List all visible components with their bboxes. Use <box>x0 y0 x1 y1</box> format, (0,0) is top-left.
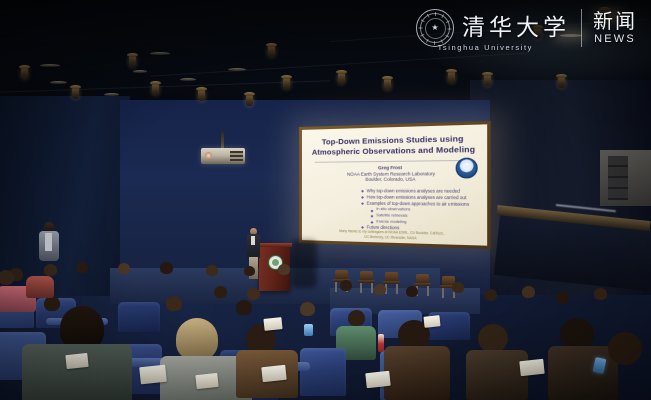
projector-vent <box>230 151 243 161</box>
attendee-head <box>406 286 418 297</box>
ceiling-spotlight <box>268 46 275 57</box>
handout-paper <box>195 373 218 389</box>
light-glow <box>552 28 590 42</box>
ceiling-spotlight <box>384 79 391 90</box>
lecture-hall-photo: Top-Down Emissions Studies using Atmosph… <box>0 0 651 400</box>
ceiling-spotlight <box>198 90 205 101</box>
attendee-head <box>348 310 365 326</box>
attendee-head <box>160 262 173 274</box>
attendee-head <box>478 324 508 353</box>
attendee-head <box>300 302 315 316</box>
ceiling-light-disc <box>104 93 119 96</box>
slide-title: Top-Down Emissions Studies using Atmosph… <box>309 133 479 158</box>
screen-surface: Top-Down Emissions Studies using Atmosph… <box>302 124 487 245</box>
ceiling-light-disc <box>150 52 170 55</box>
water-bottle <box>378 334 384 352</box>
attendee-head <box>556 292 569 304</box>
attendee-head <box>206 265 218 276</box>
ceiling-spotlight <box>72 88 79 99</box>
noaa-logo <box>456 158 478 179</box>
handout-paper <box>139 365 167 385</box>
slide-divider <box>315 160 472 163</box>
ceiling-spotlight <box>152 84 159 95</box>
attendee-head <box>214 286 227 298</box>
attendee-head <box>44 264 57 276</box>
attendee-head <box>76 262 88 273</box>
attendee-body <box>548 346 618 400</box>
ceiling-spotlight <box>558 77 565 88</box>
slide-footer-line2: UC Berkeley, UC Riverside, NASA <box>364 234 416 240</box>
attendee-head <box>452 282 464 293</box>
attendee-head <box>166 296 182 311</box>
ceiling-light-disc <box>228 68 246 71</box>
slide-bullet-list: Why top-down emissions analyses are need… <box>321 188 479 234</box>
attendee-head <box>236 300 252 315</box>
projection-screen: Top-Down Emissions Studies using Atmosph… <box>299 121 491 249</box>
attendee-head <box>244 266 255 276</box>
ceiling-spotlight <box>129 56 136 67</box>
attendee-head <box>594 288 607 300</box>
ceiling-spotlight <box>534 28 541 39</box>
lectern-top <box>257 243 292 247</box>
ceiling-light-disc <box>40 64 60 67</box>
ceiling-light-disc <box>180 78 196 81</box>
attendee-body <box>22 344 132 400</box>
university-name-en: Tsinghua University <box>438 43 533 52</box>
ceiling-light-disc <box>133 70 147 73</box>
attendee-head <box>0 270 14 285</box>
handout-paper <box>519 359 544 376</box>
attendee-head <box>374 284 386 295</box>
handout-paper <box>65 353 88 369</box>
ceiling-spotlight <box>283 78 290 89</box>
attendee-head <box>608 332 642 365</box>
handout-paper <box>423 315 440 328</box>
ceiling-spotlight <box>21 68 28 79</box>
attendee-head <box>484 289 497 301</box>
presenter-shirt <box>251 236 255 245</box>
ceiling-spotlight <box>484 75 491 86</box>
ceiling-spotlight <box>448 72 455 83</box>
slide-title-line2: Atmospheric Observations and Modeling <box>309 144 479 158</box>
slide-author-block: Greg Frost NOAA Earth System Research La… <box>309 164 479 183</box>
attendee-body <box>384 346 450 400</box>
handout-paper <box>261 365 286 382</box>
attendee-head <box>247 288 260 300</box>
exit-door <box>600 150 651 206</box>
handout-paper <box>263 317 282 331</box>
ceiling-spotlight <box>246 95 253 106</box>
auditorium-seat <box>118 302 160 332</box>
ceiling-spotlight <box>601 10 608 21</box>
seated-audience <box>0 262 651 400</box>
handout-paper <box>365 371 390 388</box>
slide-affiliation-2: Boulder, Colorado, USA <box>365 177 415 182</box>
presentation-slide: Top-Down Emissions Studies using Atmosph… <box>302 124 487 245</box>
projector-mount <box>221 130 224 150</box>
attendee-head <box>522 286 535 298</box>
ceiling-spotlight <box>338 73 345 84</box>
attendee-head <box>176 318 218 360</box>
slide-affiliation-1: NOAA Earth System Research Laboratory <box>347 171 435 177</box>
ceiling-projector <box>201 148 245 164</box>
door-pane <box>608 156 628 200</box>
auditorium-seat <box>300 348 346 396</box>
attendee-body <box>26 276 54 298</box>
phone-screen <box>304 324 313 336</box>
attendee-head <box>118 263 130 274</box>
attendee-head <box>44 296 60 311</box>
attendee-body <box>466 350 528 400</box>
attendee-head <box>340 280 352 291</box>
projector-lens <box>205 152 212 159</box>
attendee-head <box>278 264 290 275</box>
ceiling-light-disc <box>50 81 67 84</box>
